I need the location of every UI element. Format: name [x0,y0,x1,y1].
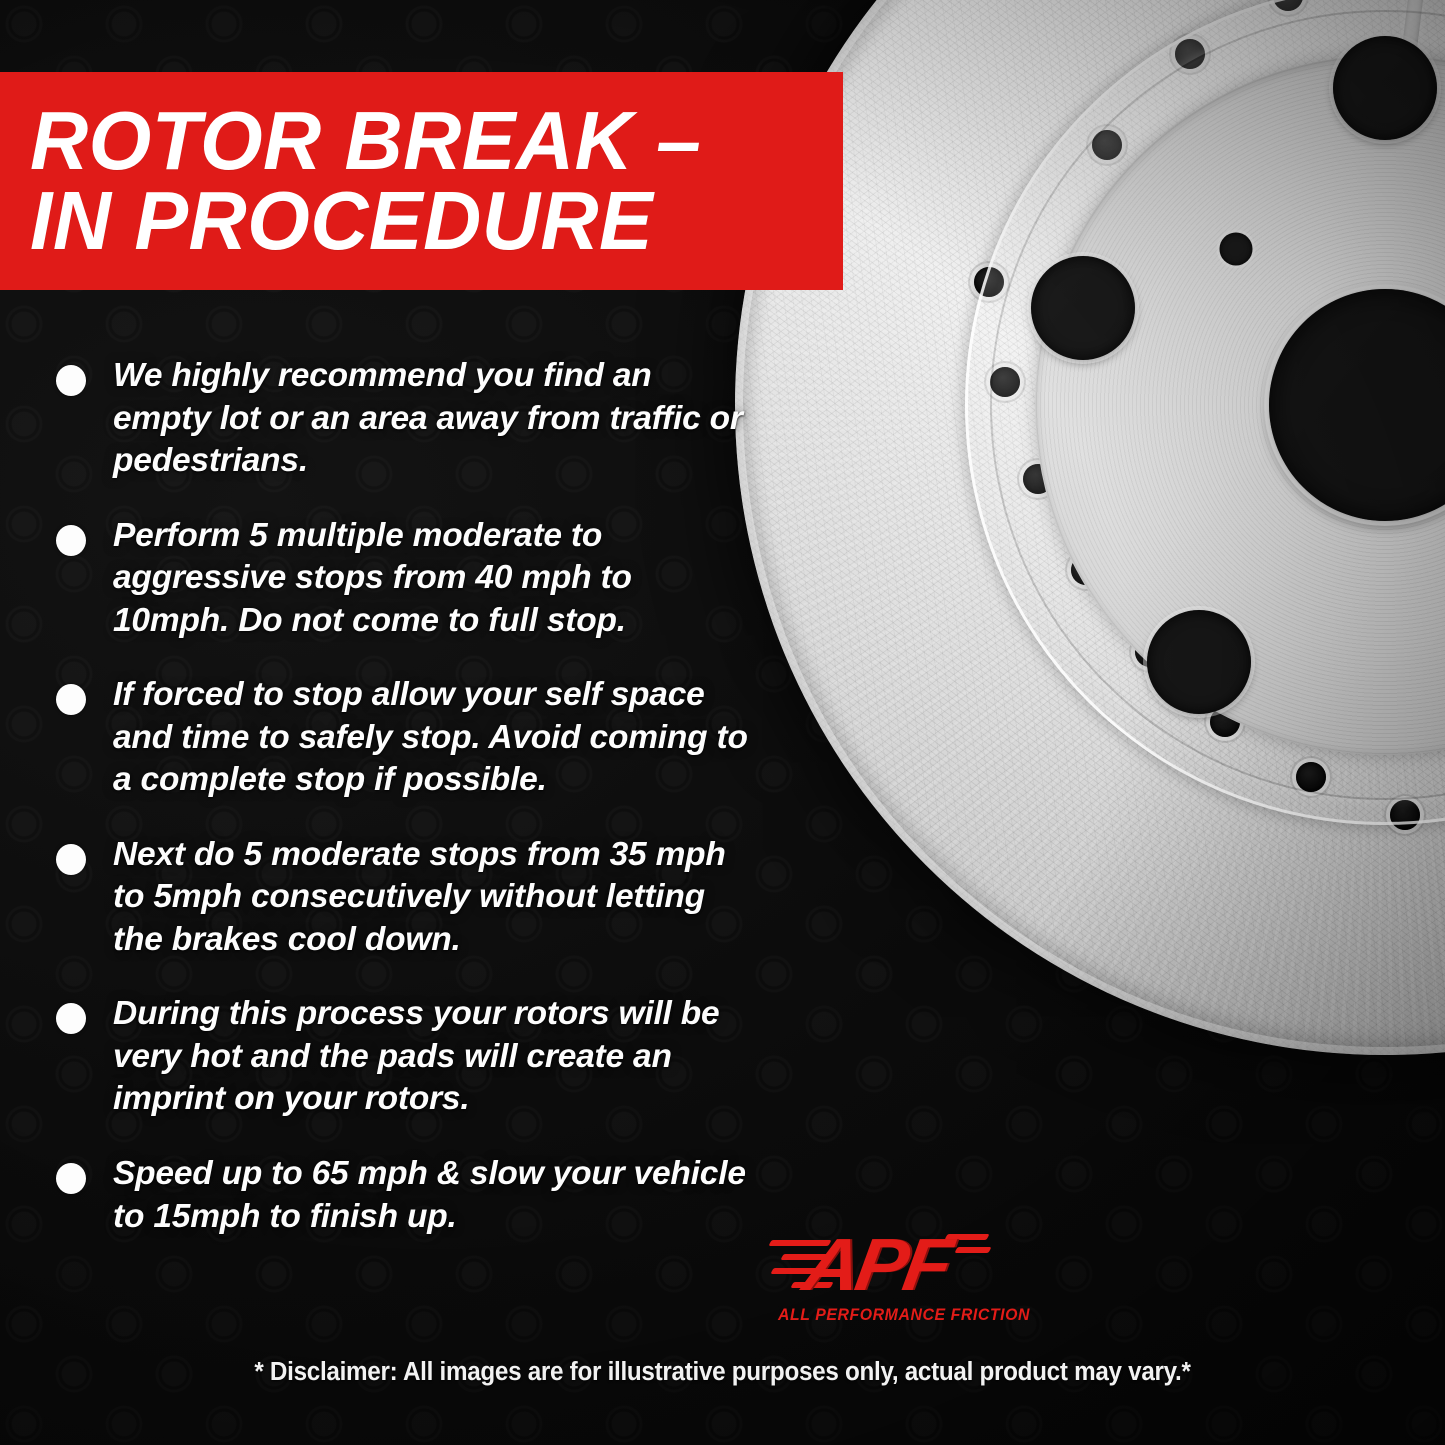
bullet-dot-icon [56,844,86,875]
list-item: Speed up to 65 mph & slow your vehicle t… [52,1153,752,1238]
bullet-dot-icon [56,1163,86,1194]
list-item: If forced to stop allow your self space … [52,674,752,802]
list-item-text: Speed up to 65 mph & slow your vehicle t… [113,1153,752,1238]
list-item: Perform 5 multiple moderate to aggressiv… [52,515,752,643]
disclaimer-text: * Disclaimer: All images are for illustr… [36,1358,1409,1387]
apf-brand-logo: APF ALL PERFORMANCE FRICTION [770,1228,1010,1333]
list-item-text: We highly recommend you find an empty lo… [113,355,752,483]
list-item-text: Perform 5 multiple moderate to aggressiv… [113,515,752,643]
list-item: Next do 5 moderate stops from 35 mph to … [52,834,752,962]
bullet-dot-icon [56,684,86,715]
list-item-text: During this process your rotors will be … [113,993,752,1121]
list-item-text: If forced to stop allow your self space … [113,674,752,802]
page-title-line-1: ROTOR BREAK – [30,101,819,182]
list-item: During this process your rotors will be … [52,993,752,1121]
speed-streak-icon [954,1247,991,1253]
bullet-dot-icon [56,365,86,396]
title-banner: ROTOR BREAK – IN PROCEDURE [0,72,843,290]
bullet-dot-icon [56,1003,86,1034]
list-item: We highly recommend you find an empty lo… [52,355,752,483]
bullet-dot-icon [56,525,86,556]
apf-tagline: ALL PERFORMANCE FRICTION [778,1306,1030,1325]
list-item-text: Next do 5 moderate stops from 35 mph to … [113,834,752,962]
apf-logotype: APF [799,1228,954,1302]
procedure-steps-list: We highly recommend you find an empty lo… [52,355,752,1270]
poster-canvas: ROTOR BREAK – IN PROCEDURE We highly rec… [0,0,1445,1445]
page-title-line-2: IN PROCEDURE [30,181,819,262]
